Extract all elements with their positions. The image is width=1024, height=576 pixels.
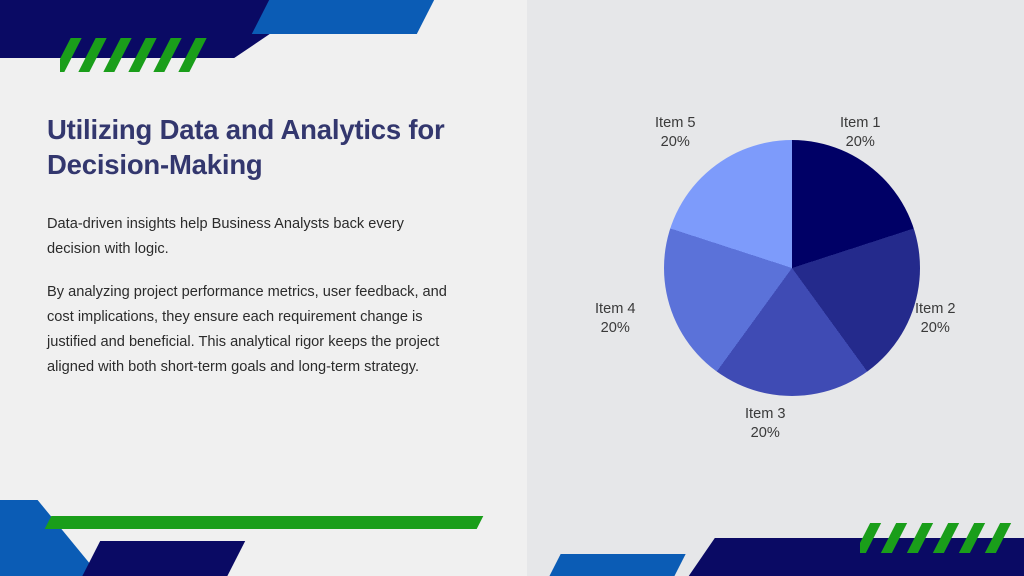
- pie-label-item-2: Item 2 20%: [915, 300, 956, 339]
- pie-label-item-5: Item 5 20%: [655, 114, 696, 153]
- pie-chart: Item 1 20% Item 2 20% Item 3 20% Item 4 …: [560, 100, 1000, 480]
- green-stripe: [860, 523, 883, 553]
- green-stripe: [956, 523, 987, 553]
- green-stripe: [176, 38, 208, 72]
- pie-label-item-5-name: Item 5: [655, 115, 696, 131]
- top-green-stripes-decoration: [60, 38, 212, 72]
- pie-label-item-3: Item 3 20%: [745, 405, 786, 444]
- bottom-right-blue-parallelogram-shape: [543, 554, 685, 576]
- green-stripe: [76, 38, 108, 72]
- pie-label-item-5-percent: 20%: [655, 133, 696, 152]
- top-blue-parallelogram-shape: [252, 0, 437, 34]
- pie-label-item-2-name: Item 2: [915, 301, 956, 317]
- green-stripe: [982, 523, 1013, 553]
- pie-label-item-2-percent: 20%: [915, 319, 956, 338]
- pie-label-item-1-name: Item 1: [840, 115, 881, 131]
- green-stripe: [878, 523, 909, 553]
- bottom-right-green-stripes-decoration: [860, 523, 1022, 553]
- slide-canvas: Utilizing Data and Analytics for Decisio…: [0, 0, 1024, 576]
- pie-label-item-4: Item 4 20%: [595, 300, 636, 339]
- bottom-left-navy-parallelogram-shape: [80, 541, 245, 576]
- pie-label-item-1-percent: 20%: [840, 133, 881, 152]
- pie-disc: [664, 140, 920, 396]
- pie-chart-graphic: [664, 140, 920, 396]
- page-title: Utilizing Data and Analytics for Decisio…: [47, 112, 457, 182]
- green-stripe: [904, 523, 935, 553]
- body-paragraph-2: By analyzing project performance metrics…: [47, 280, 457, 380]
- green-stripe: [930, 523, 961, 553]
- green-stripe: [126, 38, 158, 72]
- pie-label-item-4-percent: 20%: [595, 319, 636, 338]
- green-stripe: [101, 38, 133, 72]
- pie-label-item-1: Item 1 20%: [840, 114, 881, 153]
- text-content-block: Utilizing Data and Analytics for Decisio…: [47, 112, 457, 380]
- pie-label-item-4-name: Item 4: [595, 301, 636, 317]
- bottom-left-green-bar-decoration: [45, 516, 484, 529]
- pie-label-item-3-percent: 20%: [745, 424, 786, 443]
- body-paragraph-1: Data-driven insights help Business Analy…: [47, 212, 457, 262]
- green-stripe: [151, 38, 183, 72]
- pie-label-item-3-name: Item 3: [745, 406, 786, 422]
